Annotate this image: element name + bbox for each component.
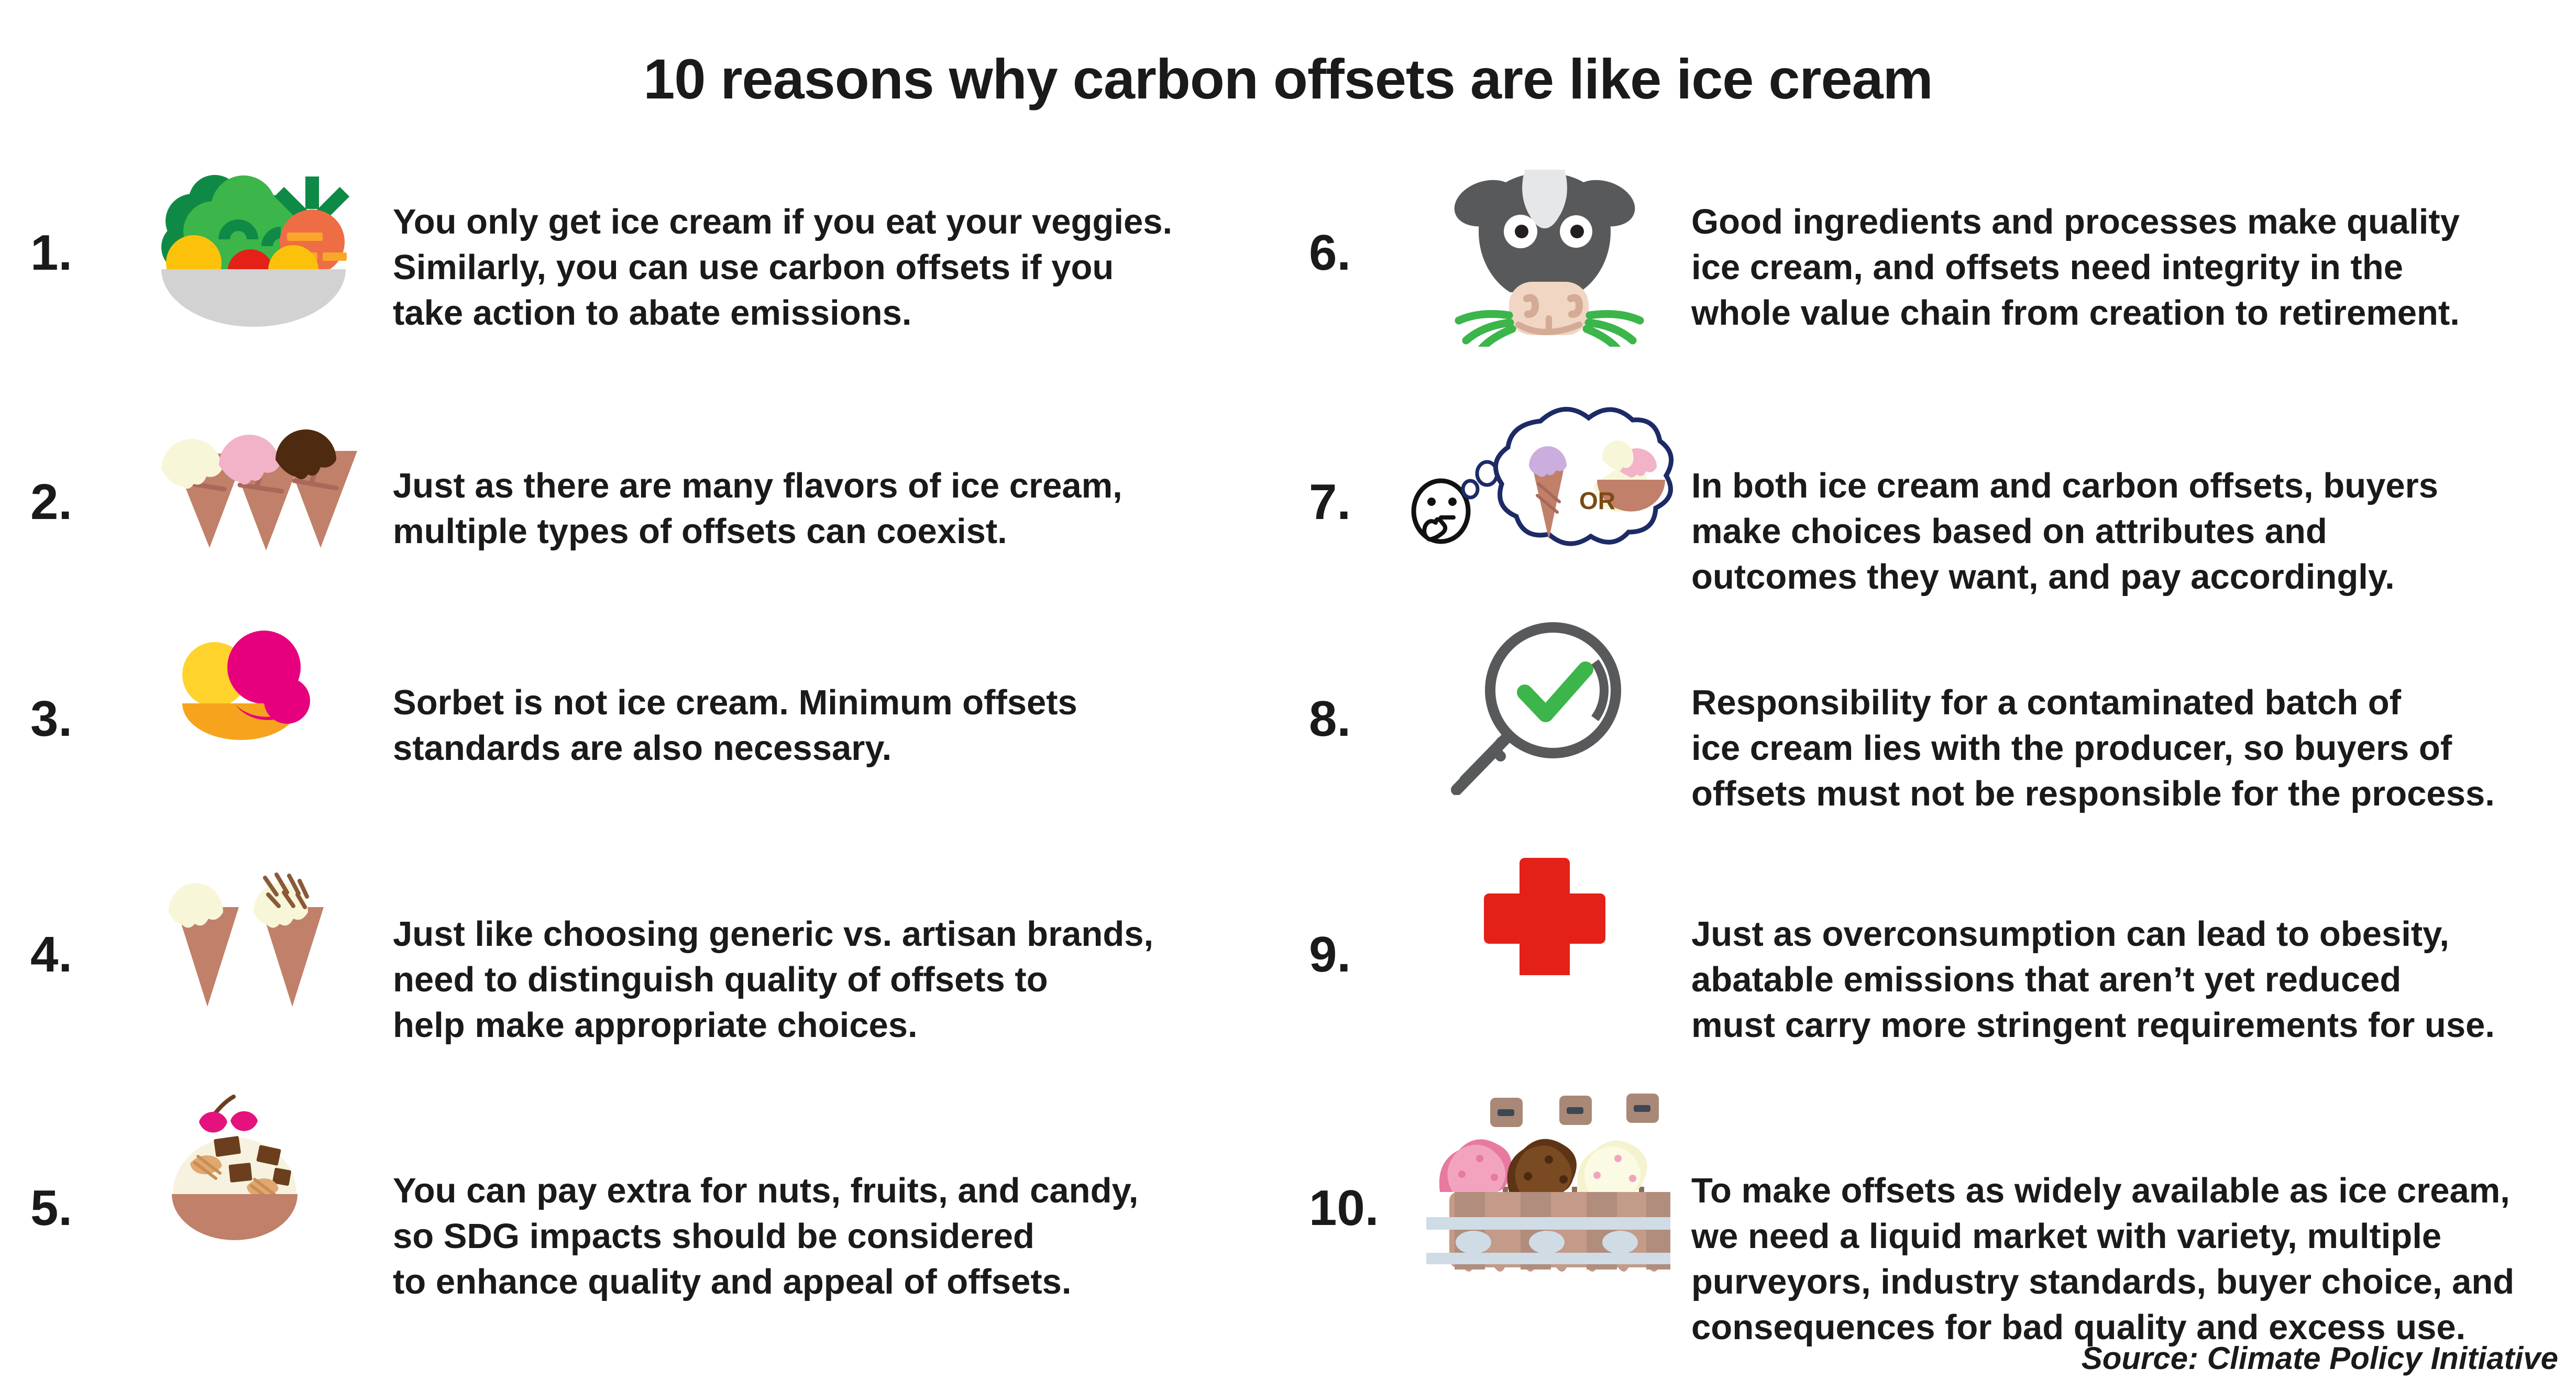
reason-number-5: 5.	[10, 1068, 100, 1237]
reason-row-6: 6.	[1293, 147, 2576, 381]
reason-text-10: To make offsets as widely available as i…	[1691, 1068, 2576, 1350]
reason-text-9: Just as overconsumption can lead to obes…	[1691, 832, 2576, 1048]
sundae-with-toppings-icon	[100, 1068, 393, 1257]
reasons-columns: 1.	[0, 147, 2576, 1315]
reason-text-8: Responsibility for a contaminated batch …	[1691, 606, 2576, 816]
veggie-bowl-icon	[100, 147, 393, 331]
reason-text-1: You only get ice cream if you eat your v…	[393, 147, 1288, 336]
or-label: OR	[1579, 487, 1615, 514]
reason-number-8: 8.	[1293, 606, 1398, 748]
reason-row-7: 7.	[1293, 381, 2576, 606]
right-column: 6.	[1288, 147, 2576, 1315]
reason-text-6: Good ingredients and processes make qual…	[1691, 147, 2576, 336]
reason-text-5: You can pay extra for nuts, fruits, and …	[393, 1068, 1288, 1305]
three-ice-cream-cones-icon	[100, 381, 393, 558]
reason-text-7: In both ice cream and carbon offsets, bu…	[1691, 381, 2576, 600]
sorbet-scoops-icon	[100, 606, 393, 769]
reason-row-5: 5.	[10, 1068, 1288, 1315]
reason-row-9: 9. Just as overconsumption can lead to o…	[1293, 832, 2576, 1068]
reason-text-4: Just like choosing generic vs. artisan b…	[393, 832, 1288, 1048]
reason-number-4: 4.	[10, 832, 100, 984]
magnifying-glass-check-icon	[1398, 606, 1691, 795]
reason-row-10: 10.	[1293, 1068, 2576, 1315]
reason-number-2: 2.	[10, 381, 100, 531]
two-cones-plain-vs-artisan-icon	[100, 832, 393, 1017]
reason-row-3: 3. Sorbet is not ice cream. Minimum offs…	[10, 606, 1288, 832]
reason-number-6: 6.	[1293, 147, 1398, 282]
medical-cross-icon	[1398, 832, 1691, 975]
reason-row-4: 4. Just like choosing generic v	[10, 832, 1288, 1068]
reason-number-3: 3.	[10, 606, 100, 748]
reason-row-2: 2.	[10, 381, 1288, 606]
source-attribution: Source: Climate Policy Initiative	[2082, 1340, 2558, 1376]
reason-row-8: 8. Responsibility for a contaminated bat…	[1293, 606, 2576, 832]
reason-number-10: 10.	[1293, 1068, 1398, 1237]
reason-number-1: 1.	[10, 147, 100, 282]
cow-icon	[1398, 147, 1691, 347]
reason-number-7: 7.	[1293, 381, 1398, 531]
reason-text-3: Sorbet is not ice cream. Minimum offsets…	[393, 606, 1288, 771]
thinking-person-thought-bubble-icon: OR	[1398, 381, 1691, 564]
ice-cream-tubs-icon	[1398, 1068, 1691, 1278]
reason-text-2: Just as there are many flavors of ice cr…	[393, 381, 1288, 554]
left-column: 1.	[0, 147, 1288, 1315]
reason-number-9: 9.	[1293, 832, 1398, 984]
reason-row-1: 1.	[10, 147, 1288, 381]
page-title: 10 reasons why carbon offsets are like i…	[0, 38, 2576, 108]
